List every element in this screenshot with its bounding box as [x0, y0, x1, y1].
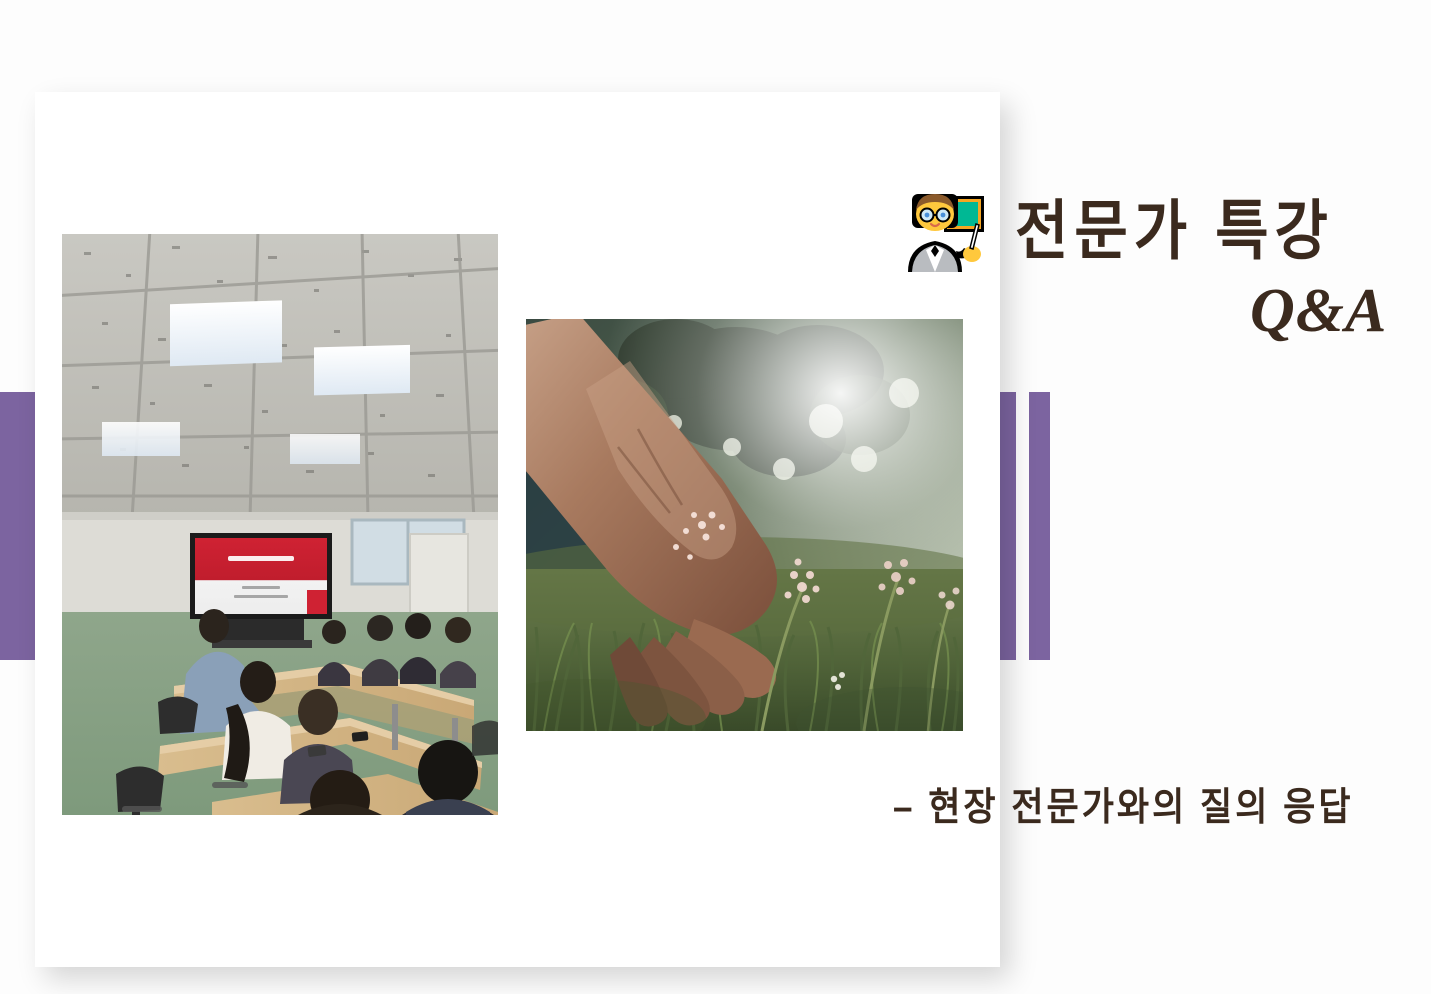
meadow-photo — [526, 319, 963, 731]
classroom-photo-art — [62, 234, 498, 815]
slide-root: 전문가 특강 Q&A – 현장 전문가와의 질의 응답 — [0, 0, 1431, 994]
decor-bar-right-2 — [1029, 392, 1050, 660]
teacher-icon — [900, 186, 988, 274]
page-title-line-1: 전문가 특강 — [1015, 178, 1334, 272]
slide-caption: – 현장 전문가와의 질의 응답 — [893, 776, 1354, 832]
meadow-photo-art — [526, 319, 963, 731]
decor-bar-left — [0, 392, 35, 660]
teacher-icon-art — [900, 186, 988, 274]
page-title-line-2: Q&A — [1250, 276, 1387, 347]
classroom-photo — [62, 234, 498, 815]
